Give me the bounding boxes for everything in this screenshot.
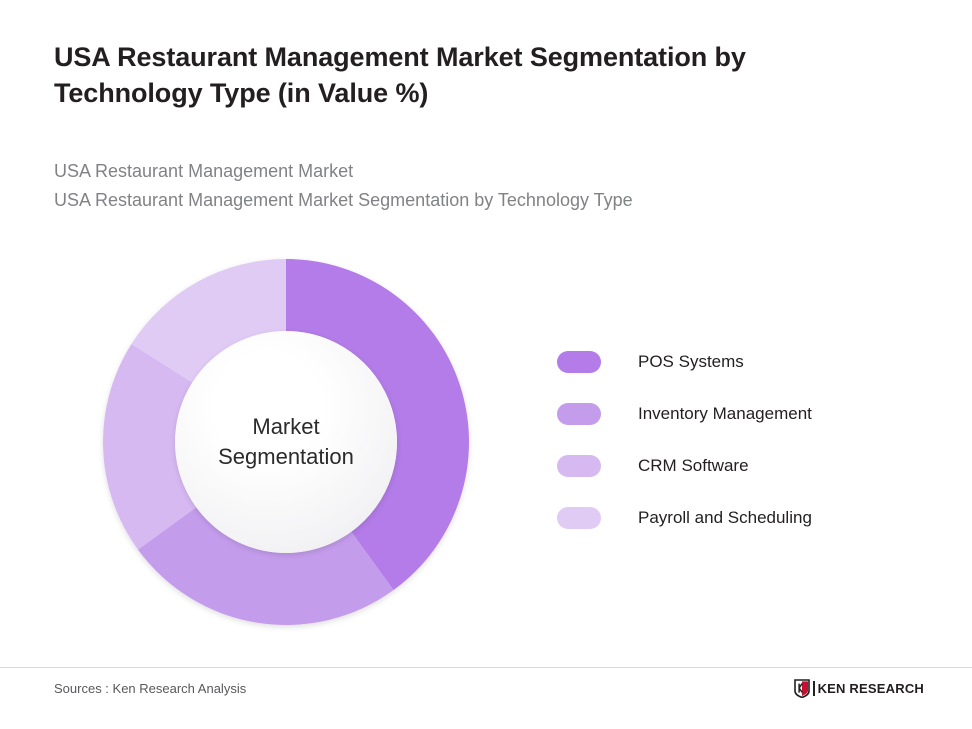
- legend-label: POS Systems: [638, 352, 744, 372]
- subtitle-line-2: USA Restaurant Management Market Segment…: [54, 186, 894, 215]
- legend-item[interactable]: Payroll and Scheduling: [557, 492, 937, 544]
- legend-item[interactable]: POS Systems: [557, 336, 937, 388]
- slide-canvas: USA Restaurant Management Market Segment…: [0, 0, 972, 729]
- chart-legend: POS SystemsInventory ManagementCRM Softw…: [557, 336, 937, 544]
- legend-item[interactable]: Inventory Management: [557, 388, 937, 440]
- brand-divider: [813, 681, 815, 696]
- donut-slice[interactable]: [138, 507, 394, 625]
- donut-slice-group: [103, 259, 469, 625]
- legend-swatch: [557, 403, 601, 425]
- legend-label: Inventory Management: [638, 404, 812, 424]
- donut-chart: Market Segmentation: [96, 252, 476, 632]
- legend-label: Payroll and Scheduling: [638, 508, 812, 528]
- ken-research-shield-icon: [794, 679, 810, 698]
- legend-swatch: [557, 351, 601, 373]
- legend-swatch: [557, 507, 601, 529]
- footer-divider: [0, 667, 972, 668]
- page-title: USA Restaurant Management Market Segment…: [54, 40, 894, 111]
- legend-item[interactable]: CRM Software: [557, 440, 937, 492]
- donut-chart-svg: [96, 252, 476, 632]
- subtitle-block: USA Restaurant Management Market USA Res…: [54, 157, 894, 215]
- sources-text: Sources : Ken Research Analysis: [54, 681, 246, 696]
- legend-label: CRM Software: [638, 456, 749, 476]
- brand-name: KEN RESEARCH: [818, 681, 924, 696]
- subtitle-line-1: USA Restaurant Management Market: [54, 157, 894, 186]
- legend-swatch: [557, 455, 601, 477]
- donut-slice[interactable]: [286, 259, 469, 590]
- brand-logo: KEN RESEARCH: [794, 679, 924, 697]
